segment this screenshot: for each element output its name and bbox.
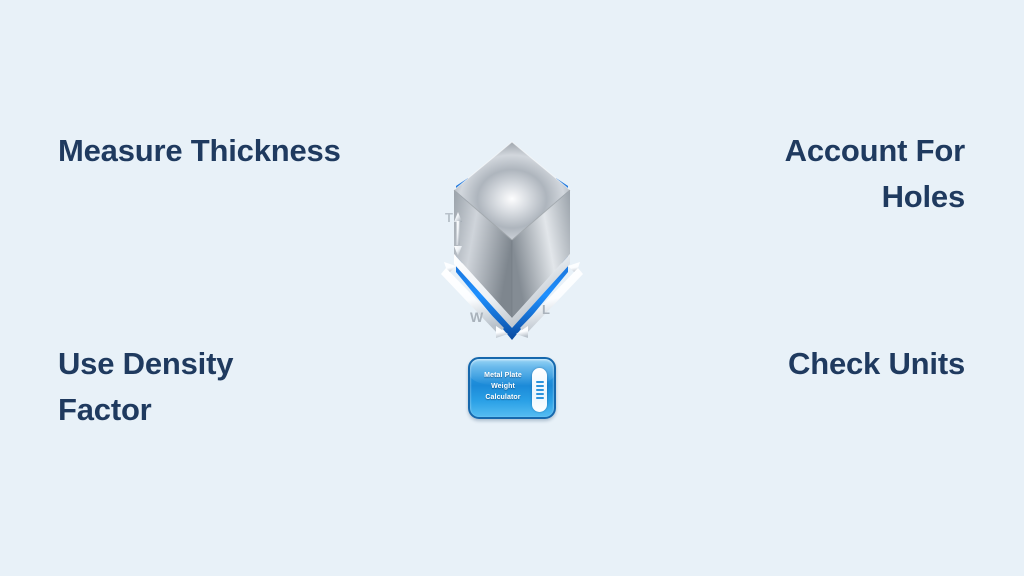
dimension-label-width: W xyxy=(470,309,484,325)
metal-plate-illustration: T W L xyxy=(432,128,592,358)
metal-plate-weight-calculator-badge[interactable]: Metal Plate Weight Calculator xyxy=(468,357,556,419)
heading-check-units: Check Units xyxy=(788,341,965,387)
badge-body: Metal Plate Weight Calculator xyxy=(468,357,556,419)
calculator-display-icon xyxy=(532,368,547,412)
heading-use-density-factor: Use Density Factor xyxy=(58,341,388,433)
badge-label: Metal Plate Weight Calculator xyxy=(475,371,531,404)
infographic-canvas: Measure Thickness Account For Holes Use … xyxy=(0,0,1024,576)
heading-account-for-holes: Account For Holes xyxy=(665,128,965,220)
heading-measure-thickness: Measure Thickness xyxy=(58,128,341,174)
dimension-label-length: L xyxy=(542,302,550,317)
dimension-label-thickness: T xyxy=(445,210,453,225)
